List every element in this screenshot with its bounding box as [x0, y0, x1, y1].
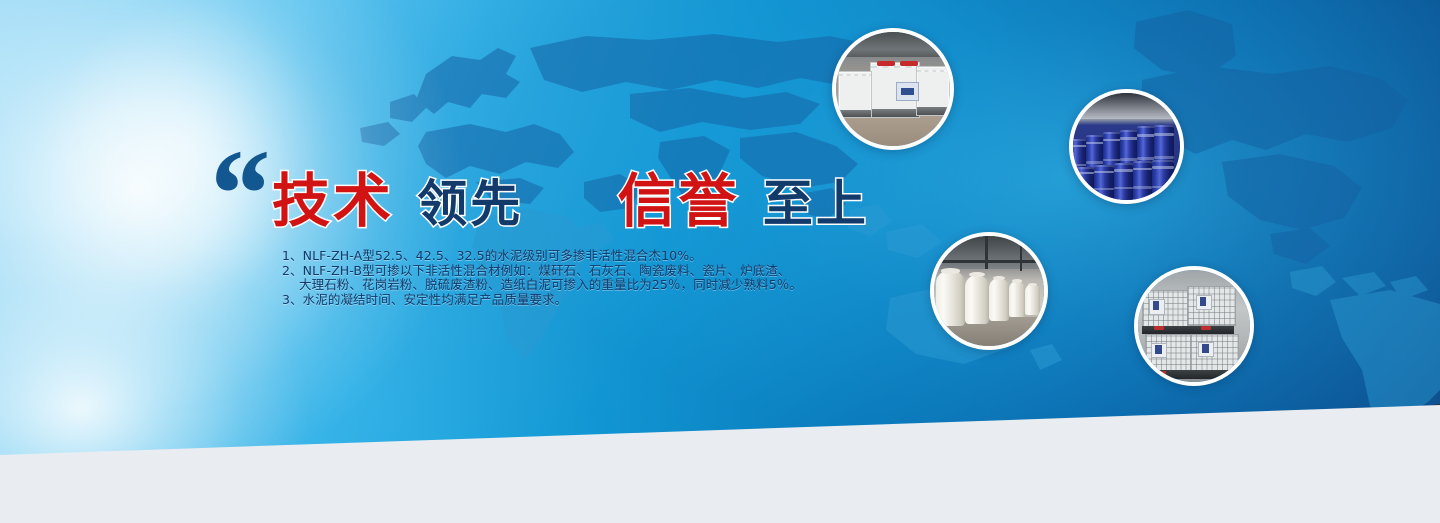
tank-lid: [941, 268, 959, 274]
ibc-tote-caged: [1187, 286, 1236, 326]
feature-list: 1、NLF-ZH-A型52.5、42.5、32.5的水泥级别可多掺非活性混合杰1…: [282, 249, 802, 307]
tank-lid: [969, 272, 984, 277]
drum-stack: [1073, 112, 1180, 200]
headline-segment-technology: 技术: [272, 172, 394, 230]
tote-label: [896, 82, 919, 101]
tank-lid: [1028, 283, 1037, 286]
tote-cap: [1156, 371, 1166, 375]
tote-cap: [1201, 326, 1211, 330]
list-item: 2、NLF-ZH-B型可掺以下非活性混合材例如：煤矸石、石灰石、陶瓷废料、瓷片、…: [282, 264, 802, 279]
steel-drum: [1133, 161, 1152, 201]
page-title: 技术 领先 信誉 至上: [272, 172, 869, 230]
headline-segment-supreme: 至上: [763, 179, 869, 229]
headline-segment-leading: 领先: [417, 179, 523, 229]
tote-label-badge: [1202, 344, 1209, 353]
tank-lid: [993, 276, 1006, 280]
tote-label-badge: [1153, 301, 1160, 310]
photo-blue-steel-drums: [1069, 89, 1184, 204]
storage-tank: [936, 271, 965, 326]
shed-roof: [934, 236, 1044, 269]
tote-cap: [877, 61, 895, 67]
steel-drum: [1114, 163, 1133, 202]
headline-segment-reputation: 信誉: [618, 172, 740, 230]
quote-mark-icon: “: [204, 130, 264, 258]
roof-column: [985, 236, 988, 269]
roof-column: [1020, 240, 1022, 271]
list-item-continuation: 大理石粉、花岗岩粉、脱硫废渣粉、造纸白泥可掺入的重量比为25％，同时减少熟料5％…: [282, 278, 802, 293]
storage-tank: [989, 278, 1009, 321]
storage-tank: [965, 275, 989, 325]
tote-label-badge: [1200, 297, 1207, 306]
ibc-tote: [916, 66, 950, 116]
photo-white-ibc-totes-warehouse: [832, 28, 954, 150]
storage-tank: [1025, 284, 1039, 315]
ibc-tote-caged: [1190, 334, 1239, 372]
storage-tank: [1009, 281, 1026, 317]
tote-label-badge: [1155, 345, 1162, 354]
steel-drum: [1152, 160, 1173, 202]
steel-drum: [1094, 165, 1113, 202]
tote-cap: [900, 61, 918, 67]
list-item: 3、水泥的凝结时间、安定性均满足产品质量要求。: [282, 293, 802, 308]
list-item: 1、NLF-ZH-A型52.5、42.5、32.5的水泥级别可多掺非活性混合杰1…: [282, 249, 802, 264]
steel-drum: [1075, 167, 1094, 202]
promo-banner: “ 技术 领先 信誉 至上 1、NLF-ZH-A型52.5、42.5、32.5的…: [0, 0, 1440, 523]
tank-lid: [1012, 279, 1023, 283]
roof-beam: [934, 260, 1044, 263]
photo-white-poly-storage-tanks: [930, 232, 1048, 350]
photo-stacked-caged-ibc-totes: [1134, 266, 1254, 386]
tote-cap: [1154, 326, 1164, 330]
warehouse-roof: [836, 32, 950, 57]
ibc-tote: [838, 71, 872, 119]
